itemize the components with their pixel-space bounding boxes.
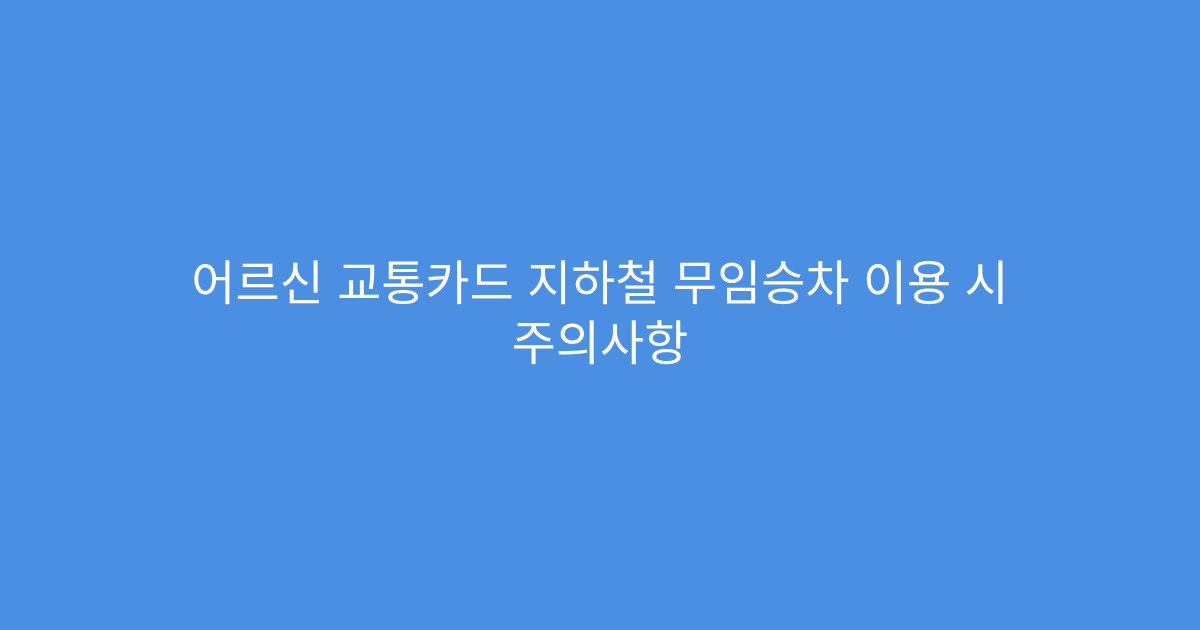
og-card-canvas: 어르신 교통카드 지하철 무임승차 이용 시 주의사항 [0, 0, 1200, 630]
headline-block: 어르신 교통카드 지하철 무임승차 이용 시 주의사항 [100, 255, 1100, 375]
page-title: 어르신 교통카드 지하철 무임승차 이용 시 주의사항 [140, 255, 1060, 375]
